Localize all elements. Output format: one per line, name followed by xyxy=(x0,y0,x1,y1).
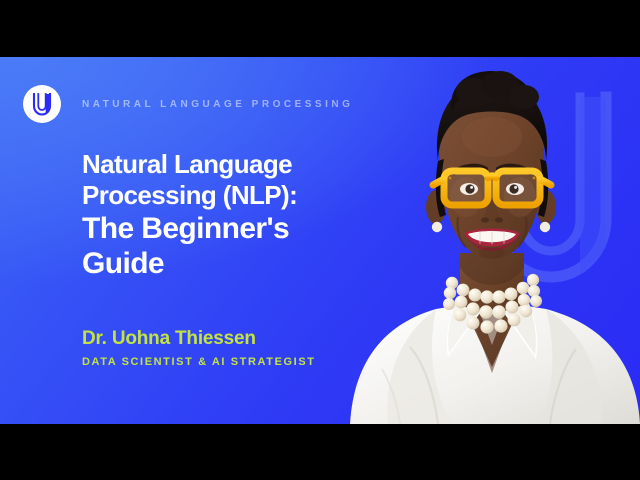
title-line-2: Processing (NLP): xyxy=(82,180,382,211)
presenter-portrait xyxy=(340,57,640,424)
title-line-3: The Beginner's xyxy=(82,211,382,246)
letterbox-top xyxy=(0,0,640,57)
presenter-byline: Dr. Uohna Thiessen DATA SCIENTIST & AI S… xyxy=(82,327,316,368)
slide-canvas: NATURAL LANGUAGE PROCESSING Natural Lang… xyxy=(0,57,640,424)
video-title-card: NATURAL LANGUAGE PROCESSING Natural Lang… xyxy=(0,0,640,480)
brand-row: NATURAL LANGUAGE PROCESSING xyxy=(23,85,353,123)
presenter-name: Dr. Uohna Thiessen xyxy=(82,327,316,351)
presenter-role: DATA SCIENTIST & AI STRATEGIST xyxy=(82,356,316,368)
title-line-4: Guide xyxy=(82,246,382,281)
title-line-1: Natural Language xyxy=(82,149,382,180)
page-title: Natural Language Processing (NLP): The B… xyxy=(82,149,382,282)
udacity-u-logo-icon xyxy=(23,85,61,123)
eyebrow-label: NATURAL LANGUAGE PROCESSING xyxy=(82,99,353,110)
letterbox-bottom xyxy=(0,424,640,480)
